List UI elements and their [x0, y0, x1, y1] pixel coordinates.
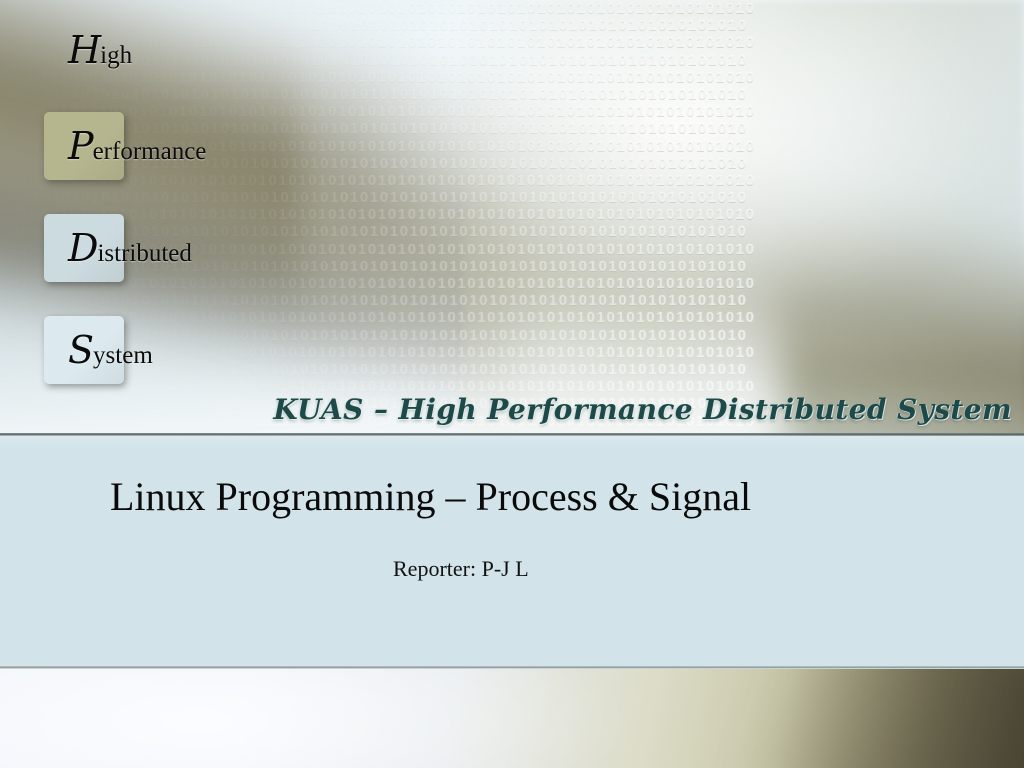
bullet-rest-performance: erformance [93, 138, 207, 165]
bullet-label-system: System [44, 331, 153, 369]
bullet-label-distributed: Distributed [44, 229, 192, 267]
dropcap-p: P [68, 124, 93, 168]
bullet-item-system: System [44, 316, 153, 384]
bullet-label-performance: Performance [44, 127, 206, 165]
bullet-item-distributed: Distributed [44, 214, 192, 282]
bullet-rest-high: igh [100, 42, 132, 69]
bullet-item-high: High [44, 16, 132, 84]
bottom-strip-shadow [736, 669, 1024, 768]
slide-bottom-strip [0, 669, 1024, 768]
slide-subtitle: Reporter: P-J L [393, 558, 529, 580]
dropcap-h: H [68, 28, 100, 72]
slide-title: Linux Programming – Process & Signal [110, 476, 751, 518]
bullet-item-performance: Performance [44, 112, 206, 180]
presentation-slide: 1010101010101010101010101010101010101010… [0, 0, 1024, 768]
bullet-rest-system: ystem [93, 342, 153, 369]
dropcap-s: S [68, 328, 93, 372]
slide-hero-image: 1010101010101010101010101010101010101010… [0, 0, 1024, 436]
bullet-rest-distributed: istributed [97, 240, 191, 267]
bullet-list: High Performance Distributed System [0, 0, 620, 436]
bottom-strip-glow [0, 669, 700, 768]
slide-title-band: Linux Programming – Process & Signal Rep… [0, 436, 1024, 668]
dropcap-d: D [68, 226, 97, 270]
bullet-label-high: High [44, 31, 132, 69]
title-band-sheen [0, 436, 1024, 446]
deck-footer-wordart: KUAS – High Performance Distributed Syst… [273, 396, 1012, 424]
